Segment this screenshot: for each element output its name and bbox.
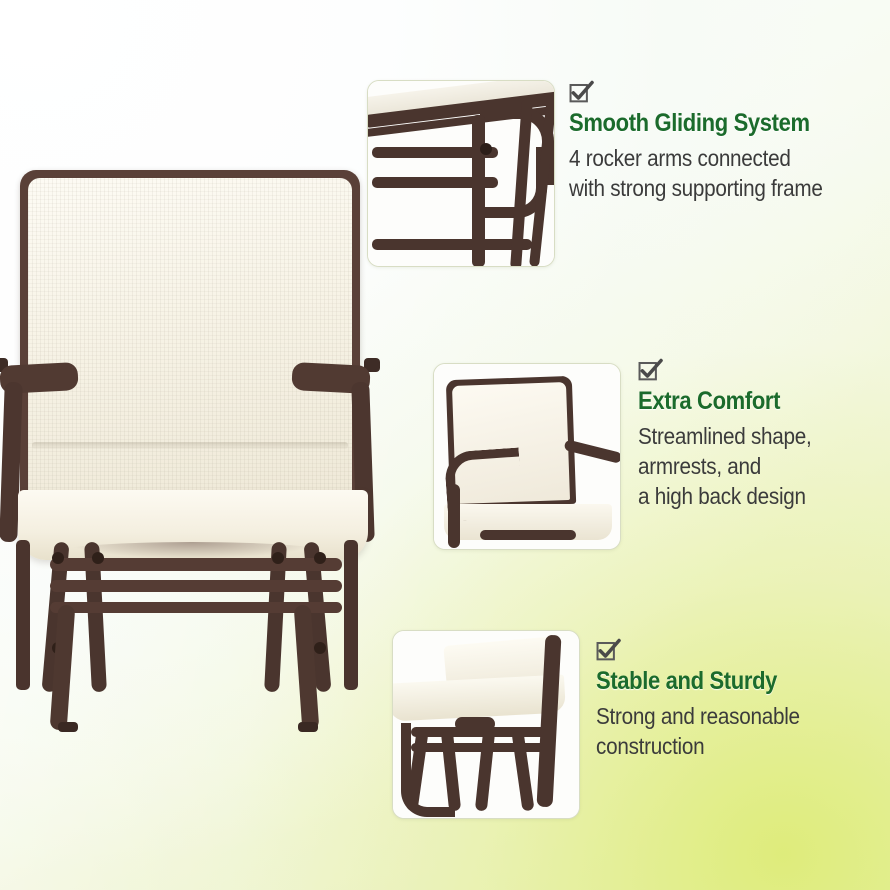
feature-image-panel-2 xyxy=(433,363,621,550)
frame-tube-horizontal-3 xyxy=(372,239,532,250)
frame-tube-vertical-1 xyxy=(472,115,485,267)
pivot-joint-4 xyxy=(314,552,326,564)
pivot-bolt-icon xyxy=(480,143,492,155)
panel-2-photo xyxy=(434,364,620,549)
main-product-image xyxy=(0,150,392,740)
checkbox-checked-icon xyxy=(638,358,663,383)
panel-1-photo xyxy=(368,81,554,266)
feature-description: Streamlined shape, armrests, and a high … xyxy=(638,422,865,512)
chair-foot-right xyxy=(298,722,318,732)
closeup-seat-surface xyxy=(392,674,566,721)
checkbox-checked-icon xyxy=(569,80,594,105)
pivot-joint-3 xyxy=(272,552,284,564)
side-frame-right xyxy=(344,540,358,690)
side-frame-left xyxy=(16,540,30,690)
support-rail-middle xyxy=(50,580,342,592)
feature-title: Extra Comfort xyxy=(638,387,860,415)
back-sling-crease xyxy=(32,442,348,449)
infographic-canvas: Smooth Gliding System 4 rocker arms conn… xyxy=(0,0,890,890)
panel-3-photo xyxy=(393,631,579,818)
checkbox-checked-icon xyxy=(596,638,621,663)
feature-block-1: Smooth Gliding System 4 rocker arms conn… xyxy=(569,80,887,204)
pivot-joint-6 xyxy=(314,642,326,654)
closeup-front-post xyxy=(448,484,460,548)
closeup-runner-rail xyxy=(401,723,455,817)
chair-foot-left xyxy=(58,722,78,732)
closeup-base-bar xyxy=(480,530,576,540)
feature-title: Stable and Sturdy xyxy=(596,667,851,695)
pivot-joint-1 xyxy=(52,552,64,564)
feature-image-panel-3 xyxy=(392,630,580,819)
feature-block-3: Stable and Sturdy Strong and reasonable … xyxy=(596,638,886,762)
feature-block-2: Extra Comfort Streamlined shape, armrest… xyxy=(638,358,890,512)
pivot-joint-2 xyxy=(92,552,104,564)
feature-description: 4 rocker arms connected with strong supp… xyxy=(569,144,855,204)
feature-title: Smooth Gliding System xyxy=(569,109,849,137)
feature-image-panel-1 xyxy=(367,80,555,267)
feature-description: Strong and reasonable construction xyxy=(596,702,857,762)
